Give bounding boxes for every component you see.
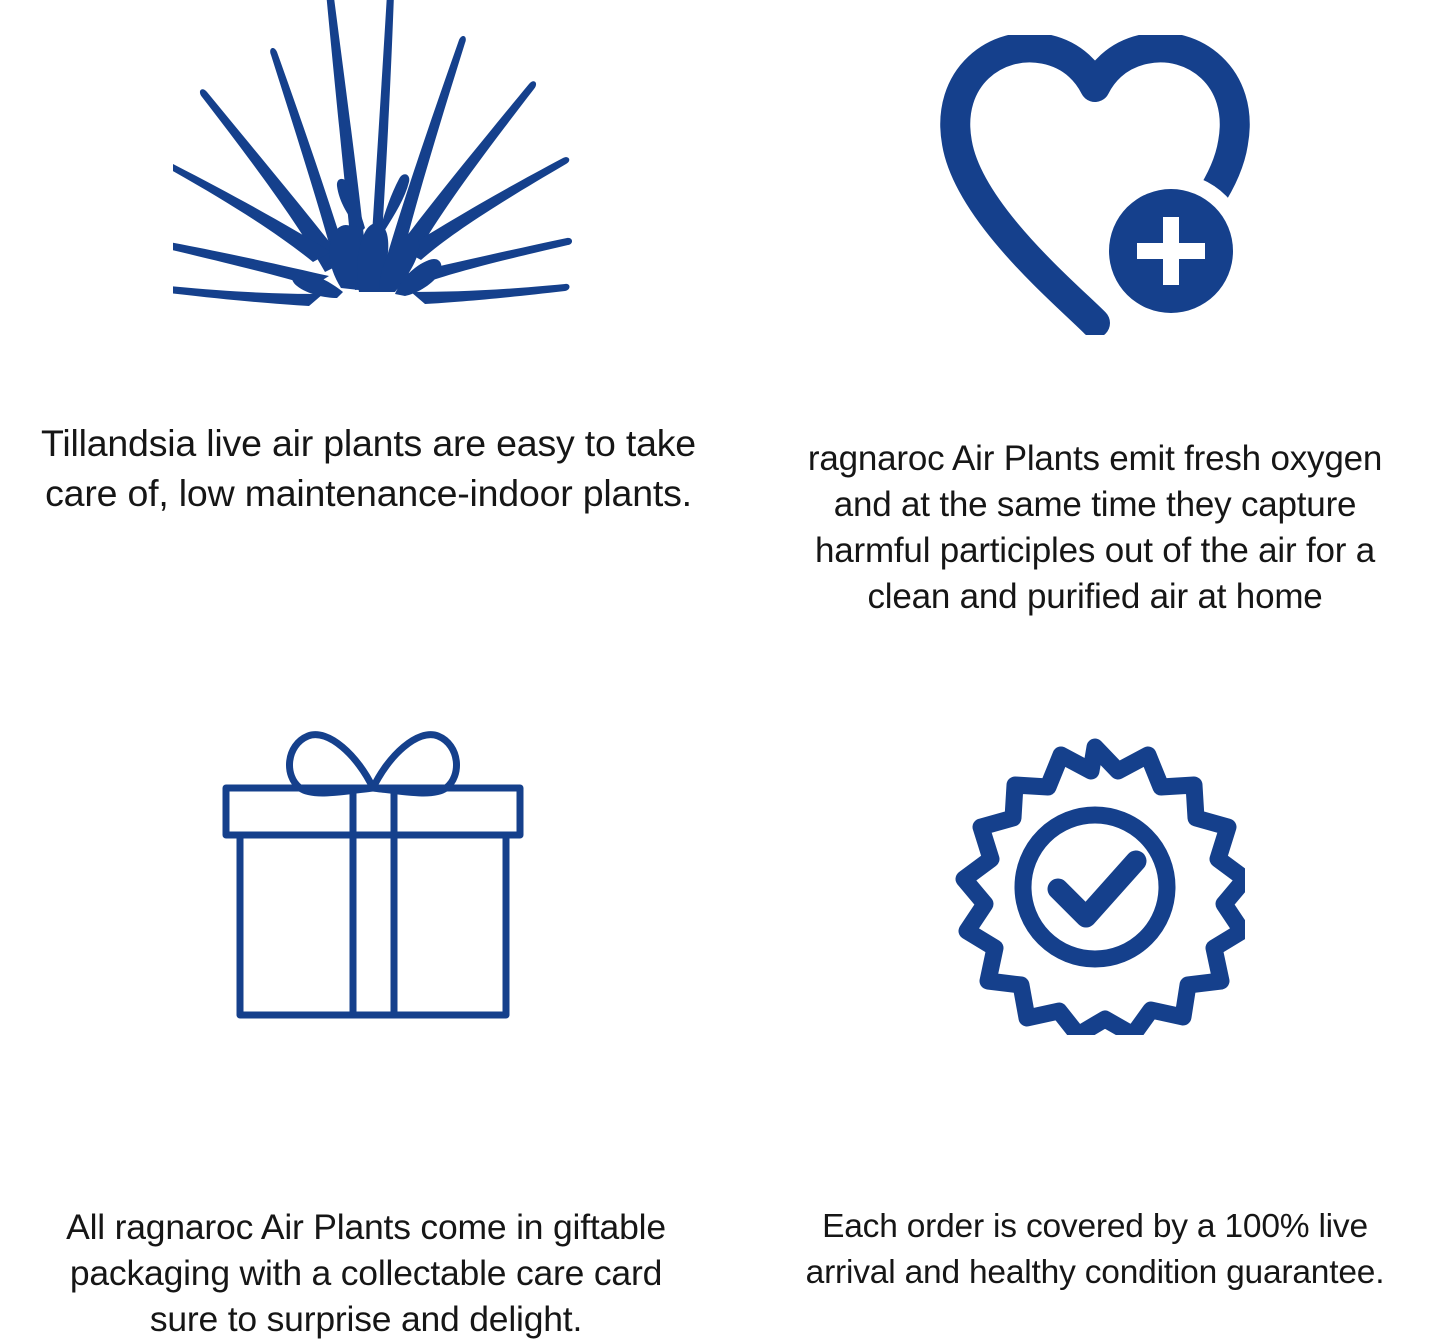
gift-body (240, 835, 506, 1015)
feature-card-air-plant-care: Tillandsia live air plants are easy to t… (0, 0, 745, 656)
feature-card-giftable-packaging: All ragnaroc Air Plants come in giftable… (0, 656, 745, 1312)
feature-caption: All ragnaroc Air Plants come in giftable… (6, 1204, 726, 1342)
gift-box-icon (208, 720, 538, 1050)
guarantee-badge-icon-well (745, 656, 1445, 986)
gift-lid (226, 788, 520, 835)
air-plant-icon (173, 0, 573, 318)
feature-card-air-purification: ragnaroc Air Plants emit fresh oxygen an… (745, 0, 1445, 656)
heart-plus-icon-well (745, 20, 1445, 350)
feature-grid: Tillandsia live air plants are easy to t… (0, 0, 1445, 1312)
feature-caption: Tillandsia live air plants are easy to t… (0, 418, 749, 518)
bow-loop-right (373, 735, 456, 793)
bow-loop-left (289, 735, 372, 793)
check-icon (1058, 861, 1136, 917)
gift-box-icon-well (0, 656, 745, 986)
guarantee-badge-check-icon (945, 735, 1245, 1035)
air-plant-icon-well (0, 0, 745, 318)
heart-plus-icon (935, 35, 1255, 335)
feature-caption: ragnaroc Air Plants emit fresh oxygen an… (745, 436, 1445, 620)
feature-card-live-arrival-guarantee: Each order is covered by a 100% live arr… (745, 656, 1445, 1312)
check-circle (1023, 815, 1167, 959)
feature-caption: Each order is covered by a 100% live arr… (745, 1204, 1445, 1296)
